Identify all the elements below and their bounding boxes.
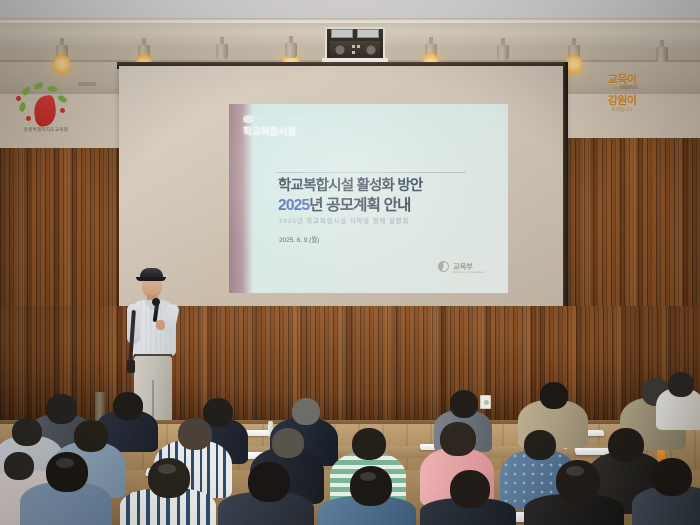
hair-highlight <box>56 458 74 468</box>
hair-highlight <box>566 466 584 476</box>
attendee-head <box>4 452 34 480</box>
projector-body <box>330 41 380 59</box>
wall-emblem-caption: 강원특별자치도교육청 <box>18 127 74 133</box>
hair-highlight <box>360 472 376 481</box>
track-light-fixture <box>656 40 668 66</box>
slide-light-bloom <box>229 104 508 293</box>
attendee-head <box>272 428 304 458</box>
attendee-head <box>540 382 568 409</box>
attendee-head <box>74 420 108 452</box>
water-bottle-cap <box>268 421 273 424</box>
track-light-fixture <box>285 36 297 62</box>
microphone-head-icon <box>152 298 160 306</box>
attendee-head <box>450 390 478 418</box>
projector-panel-right <box>357 29 379 38</box>
attendee-head <box>12 418 42 446</box>
emblem-leaf-icon <box>18 102 28 113</box>
track-light-fixture <box>216 37 228 63</box>
emblem-dot-icon <box>26 116 31 121</box>
ceiling-beam-edge <box>0 20 700 23</box>
presenter-hand <box>156 320 165 330</box>
attendee-head <box>450 470 490 508</box>
ceiling-vent <box>78 82 96 86</box>
attendee-head-long-hair <box>608 428 644 462</box>
auditorium-photo: 강원특별자치도교육청 교육이 희망이며 강원이 미래입니다 교육부 학교복합시설… <box>0 0 700 525</box>
emblem-leaf-icon <box>34 82 44 89</box>
light-bulb-glow <box>54 54 70 76</box>
wall-emblem-left: 강원특별자치도교육청 <box>14 82 76 140</box>
projector-panel-left <box>331 29 353 38</box>
emblem-dot-icon <box>60 108 65 113</box>
banner-line-1-sub: 희망이며 <box>583 86 661 92</box>
attendee-head <box>524 430 556 460</box>
emblem-leaf-icon <box>57 94 67 105</box>
emblem-leaf-icon <box>21 86 32 96</box>
presenter-belt-pouch <box>127 360 135 373</box>
attendee-head-gray-hair <box>292 398 320 425</box>
presenter-cap-brim <box>136 277 166 281</box>
attendee-head <box>46 394 77 424</box>
projected-slide: 교육부 학교복합시설 지원센터 학교복합시설 학교복합시설 활성화 방안 202… <box>229 104 508 293</box>
attendee-head <box>352 428 386 460</box>
track-light-fixture <box>497 38 509 64</box>
attendee-head <box>178 418 212 450</box>
attendee-head <box>652 458 692 496</box>
wood-slat-wall-stage <box>0 306 700 426</box>
emblem-leaf-icon <box>47 85 58 94</box>
wall-banner-right: 교육이 희망이며 강원이 미래입니다 <box>583 74 661 136</box>
attendee-head <box>668 372 694 397</box>
emblem-figure-icon <box>32 94 58 127</box>
attendee-head <box>440 422 476 456</box>
banner-line-2-sub: 미래입니다 <box>583 107 661 113</box>
screen-right-edge <box>563 62 568 344</box>
attendee-head <box>113 392 143 420</box>
wall-power-outlet <box>480 395 491 409</box>
light-bulb-glow <box>566 54 582 76</box>
emblem-dot-icon <box>16 96 21 101</box>
hair-highlight <box>158 464 176 474</box>
attendee-head <box>248 462 290 502</box>
